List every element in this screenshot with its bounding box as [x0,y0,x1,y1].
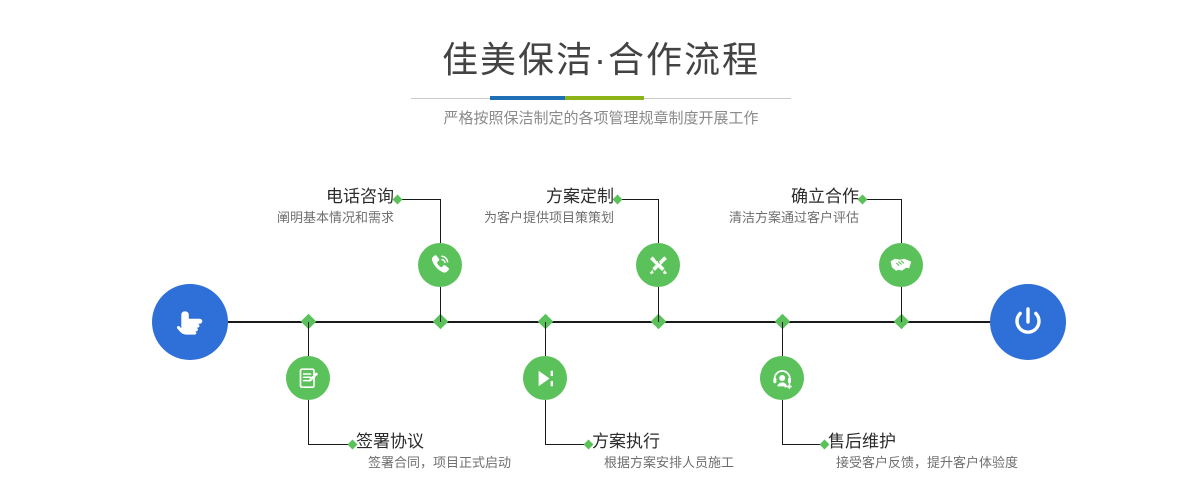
step-desc-5: 清洁方案通过客户评估 [540,208,859,228]
connector-step-6-lower [782,400,783,444]
step-icon-1[interactable] [418,243,462,287]
infographic-canvas: 佳美保洁·合作流程 严格按照保洁制定的各项管理规章制度开展工作 [0,0,1202,502]
step-label-5: 确立合作 清洁方案通过客户评估 [540,186,859,228]
label-marker-step-5 [858,195,868,205]
step-title-6: 售后维护 [828,431,1198,453]
handshake-icon [888,252,914,278]
pointing-hand-icon [170,302,210,342]
step-label-6: 售后维护 接受客户反馈，提升客户体验度 [828,431,1198,473]
step-icon-3[interactable] [636,243,680,287]
connector-step-2-upper [308,322,309,356]
step-icon-2[interactable] [286,356,330,400]
flow-start-node[interactable] [152,284,228,360]
connector-step-1-lower [440,287,441,322]
flow-end-node[interactable] [990,284,1066,360]
document-edit-icon [296,366,321,391]
connector-step-6-elbow [782,444,824,445]
process-flow: 电话咨询 阐明基本情况和需求 签署协议 签署合同，项目正式启动 [0,0,1202,502]
power-icon [1007,301,1049,343]
connector-step-4-lower [545,400,546,444]
pencil-ruler-icon [646,253,671,278]
connector-step-4-elbow [545,444,588,445]
step-icon-4[interactable] [523,356,567,400]
connector-step-3-lower [658,287,659,322]
connector-step-5-elbow [862,199,902,200]
step-icon-5[interactable] [879,243,923,287]
step-desc-6: 接受客户反馈，提升客户体验度 [828,453,1198,473]
connector-step-5-upper [901,199,902,243]
step-icon-6[interactable] [760,356,804,400]
connector-step-2-elbow [308,444,352,445]
connector-step-2-lower [308,400,309,444]
connector-step-6-upper [782,322,783,356]
play-to-end-icon [533,366,558,391]
phone-ring-icon [427,252,453,278]
connector-step-4-upper [545,322,546,356]
step-title-5: 确立合作 [540,186,859,208]
connector-step-5-lower [901,287,902,322]
headset-support-icon [770,366,795,391]
